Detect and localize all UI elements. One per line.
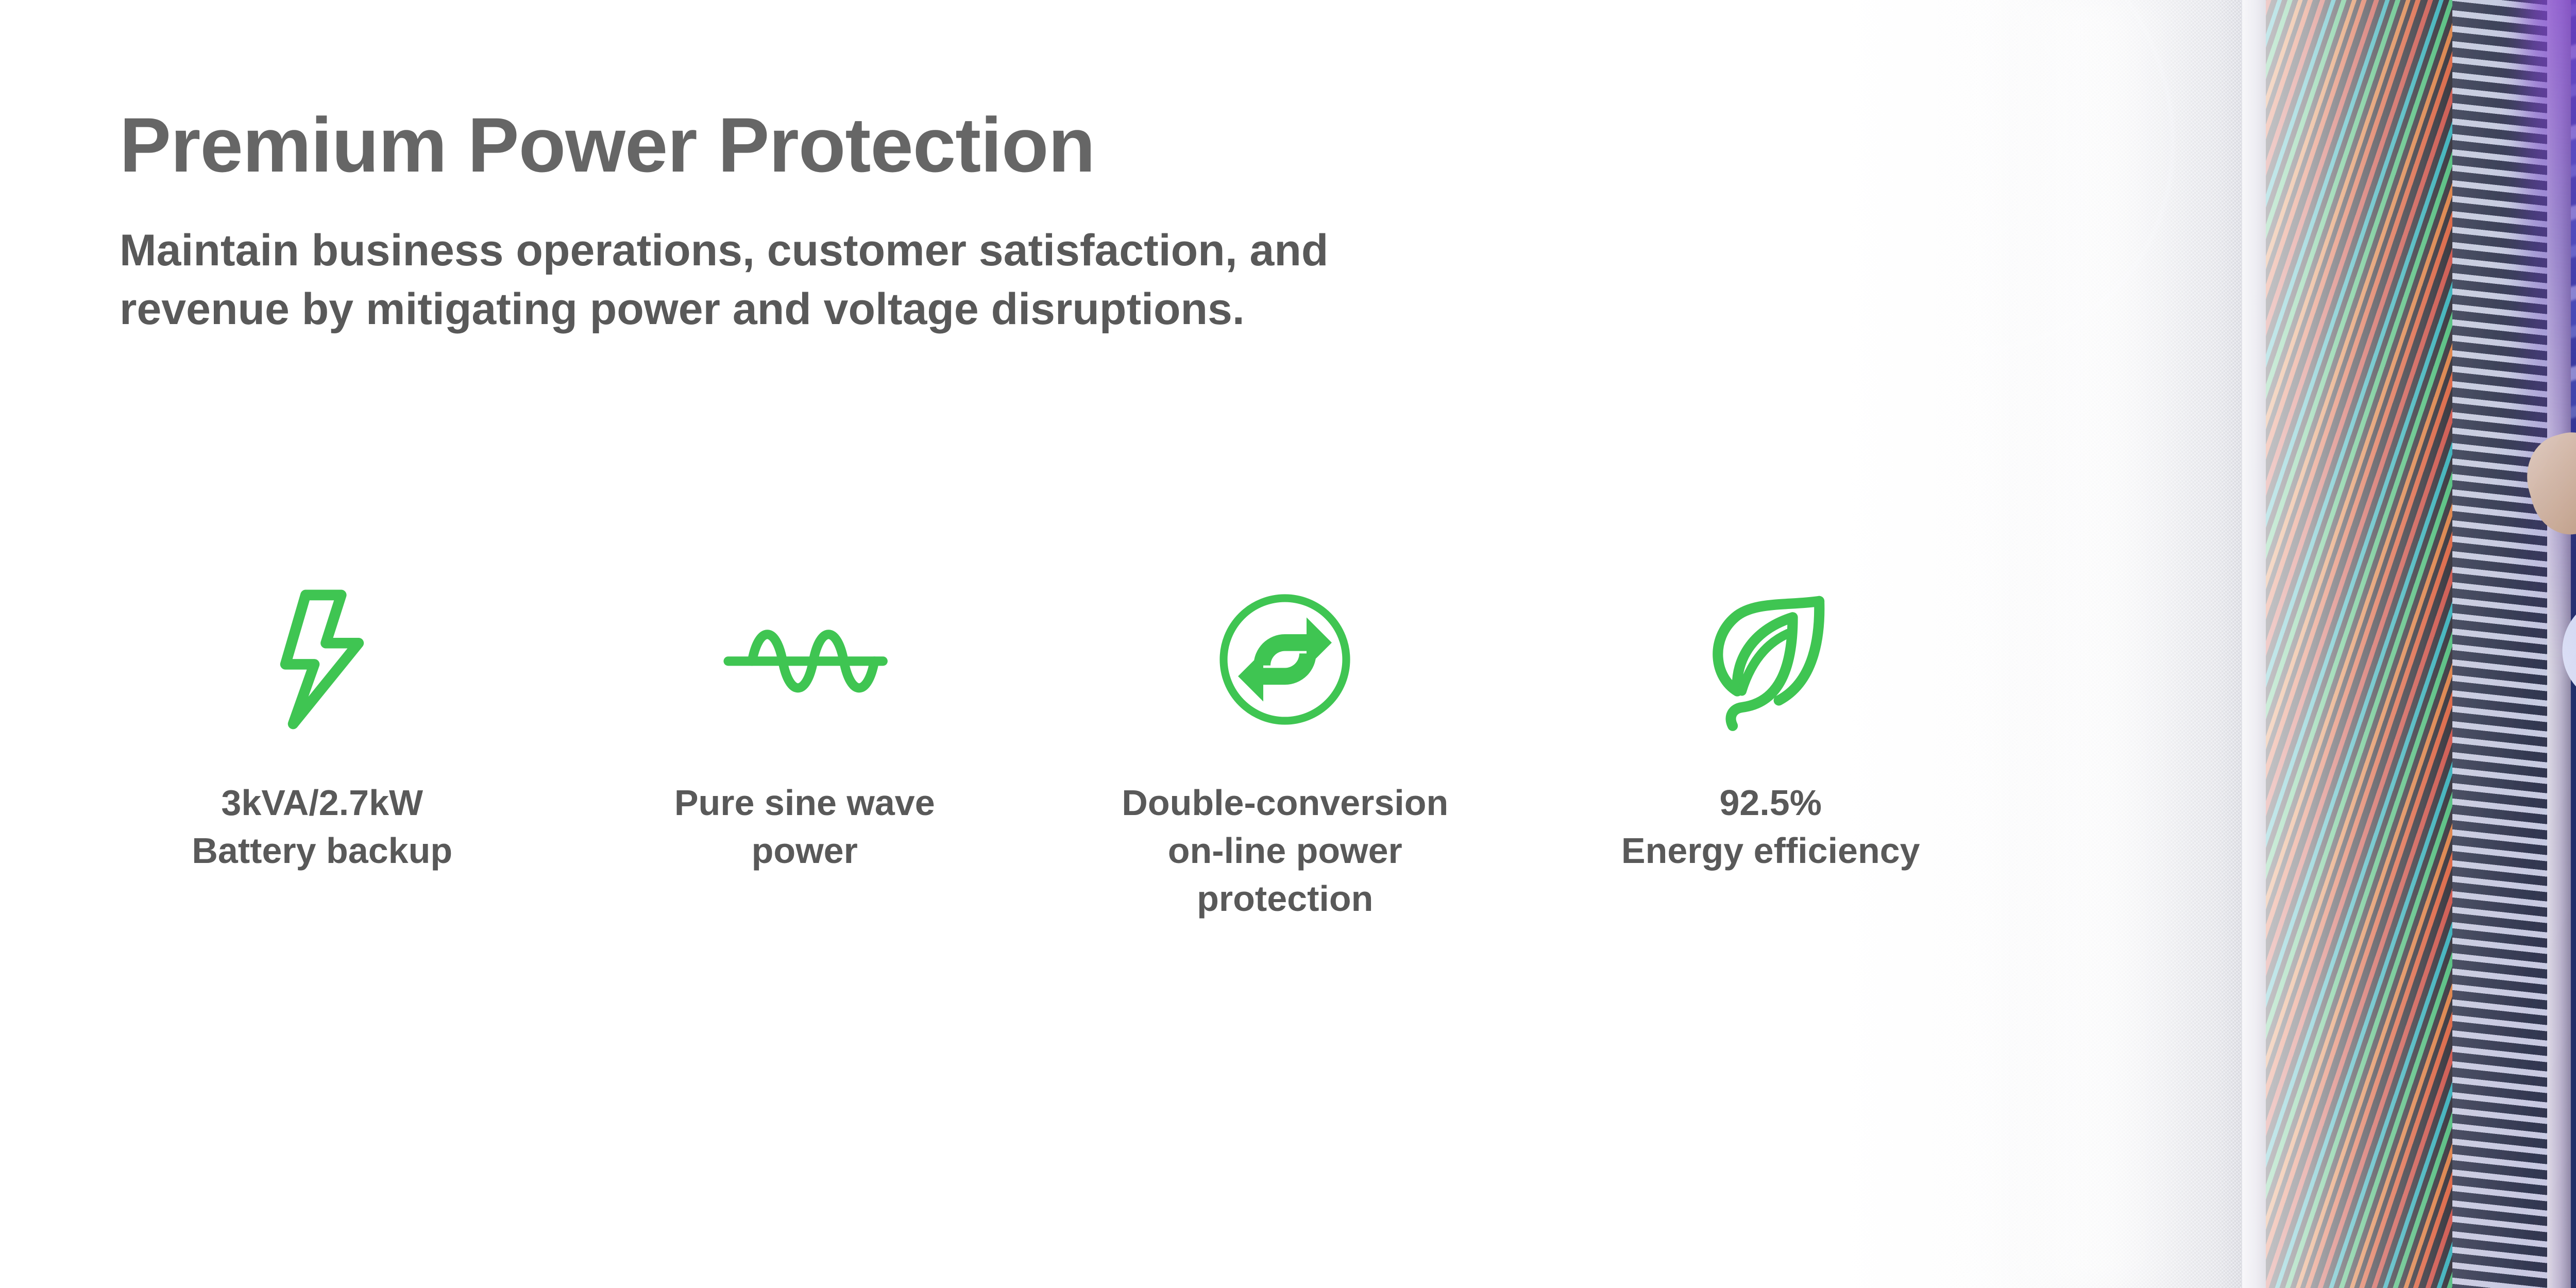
feature-item-double-conversion: Double-conversion on-line power protecti… bbox=[1046, 582, 1524, 923]
leaf-icon bbox=[1693, 582, 1848, 737]
feature-label-line: on-line power bbox=[1046, 827, 1524, 875]
banner-content: Premium Power Protection Maintain busine… bbox=[0, 0, 2112, 1288]
feature-item-energy-efficiency: 92.5% Energy efficiency bbox=[1532, 582, 2010, 875]
feature-label-line: protection bbox=[1046, 875, 1524, 923]
feature-label-energy-efficiency: 92.5% Energy efficiency bbox=[1532, 779, 2010, 875]
subtitle-line-1: Maintain business operations, customer s… bbox=[120, 222, 1820, 280]
feature-label-line: Energy efficiency bbox=[1532, 827, 2010, 875]
feature-label-line: 3kVA/2.7kW bbox=[83, 779, 561, 827]
premium-power-protection-banner: Premium Power Protection Maintain busine… bbox=[0, 0, 2576, 1288]
subtitle: Maintain business operations, customer s… bbox=[120, 222, 1820, 338]
feature-list: 3kVA/2.7kW Battery backup Pure sine wave… bbox=[93, 582, 2009, 923]
feature-label-double-conversion: Double-conversion on-line power protecti… bbox=[1046, 779, 1524, 923]
double-conversion-cycle-icon bbox=[1208, 582, 1362, 737]
feature-label-line: 92.5% bbox=[1532, 779, 2010, 827]
page-title: Premium Power Protection bbox=[120, 103, 1095, 187]
feature-label-line: Pure sine wave bbox=[566, 779, 1044, 827]
lightning-bolt-icon bbox=[245, 582, 399, 737]
feature-label-line: power bbox=[566, 827, 1044, 875]
feature-label-line: Battery backup bbox=[83, 827, 561, 875]
feature-label-pure-sine-wave: Pure sine wave power bbox=[566, 779, 1044, 875]
feature-label-battery-backup: 3kVA/2.7kW Battery backup bbox=[83, 779, 561, 875]
sine-wave-icon bbox=[727, 582, 882, 737]
feature-item-battery-backup: 3kVA/2.7kW Battery backup bbox=[83, 582, 561, 875]
feature-item-pure-sine-wave: Pure sine wave power bbox=[566, 582, 1044, 875]
subtitle-line-2: revenue by mitigating power and voltage … bbox=[120, 280, 1820, 339]
feature-label-line: Double-conversion bbox=[1046, 779, 1524, 827]
